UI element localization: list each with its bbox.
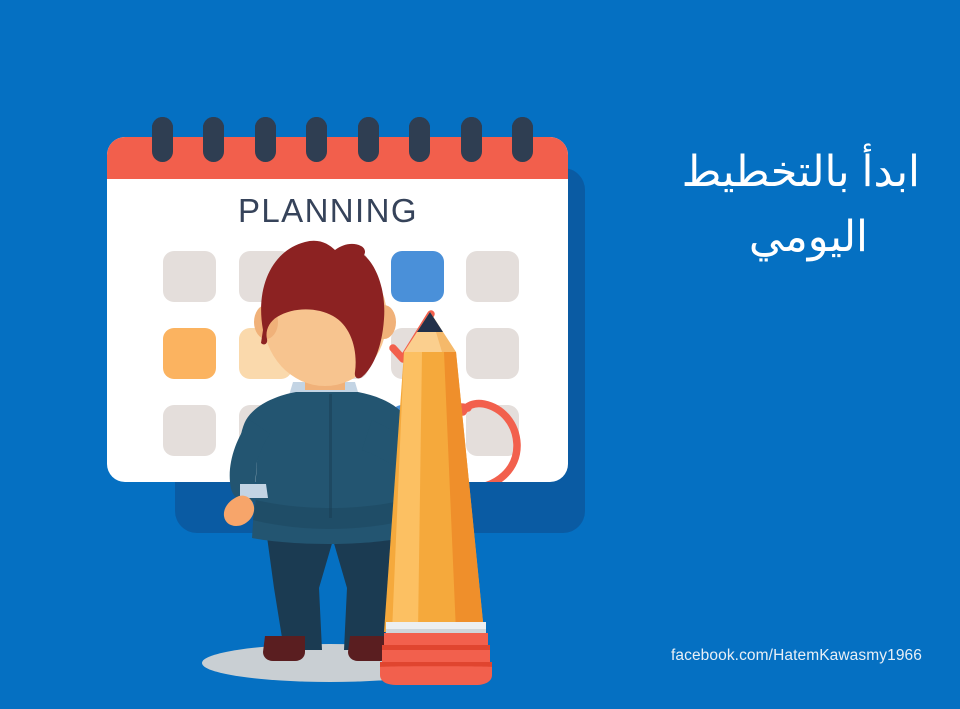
headline: ابدأ بالتخطيط اليومي <box>494 140 924 271</box>
jacket-center-seam <box>329 394 332 518</box>
calendar-cell <box>391 251 444 302</box>
calendar-cell <box>466 328 519 379</box>
pencil-eraser <box>380 633 492 685</box>
calendar-cell <box>163 251 216 302</box>
illustration-artboard <box>0 0 960 709</box>
calendar-cell <box>163 328 216 379</box>
facebook-credit-link[interactable]: facebook.com/HatemKawasmy1966 <box>671 647 922 665</box>
headline-line-1: ابدأ بالتخطيط <box>494 140 924 205</box>
pencil-ferrule-line <box>386 629 486 633</box>
headline-line-2: اليومي <box>494 205 924 270</box>
calendar-title-label: PLANNING <box>238 192 418 230</box>
poster-canvas: PLANNING ابدأ بالتخطيط اليومي facebook.c… <box>0 0 960 709</box>
calendar-cell <box>163 405 216 456</box>
shoe-left <box>263 636 305 661</box>
